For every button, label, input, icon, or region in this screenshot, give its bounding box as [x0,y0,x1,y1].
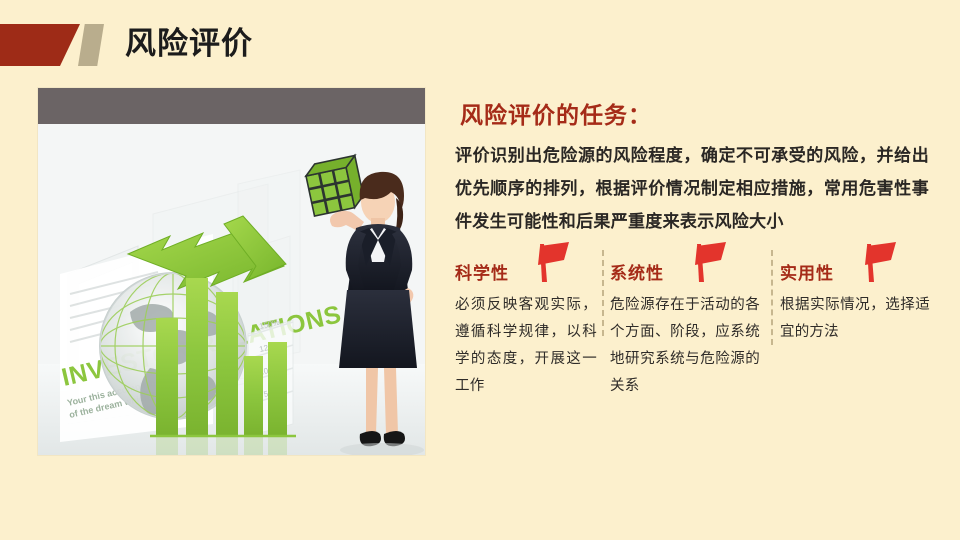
feature-column-2-body: 危险源存在于活动的各个方面、阶段，应系统地研究系统与危险源的关系 [610,292,760,400]
task-body-text: 评价识别出危险源的风险程度，确定不可承受的风险，并给出优先顺序的排列，根据评价情… [455,139,929,238]
feature-column-1-header: 科学性 [455,246,597,288]
header-banner [0,24,104,66]
flag-icon [858,240,900,289]
feature-column-3-header: 实用性 [780,246,930,288]
feature-column-3-title: 实用性 [780,259,834,284]
column-divider-1 [602,250,604,336]
feature-column-1-title: 科学性 [455,259,509,284]
feature-column-2-title: 系统性 [610,259,664,284]
feature-column-1-body: 必须反映客观实际，遵循科学规律，以科学的态度，开展这一工作 [455,292,597,400]
feature-column-3: 实用性 根据实际情况，选择适宜的方法 [780,246,930,346]
task-heading: 风险评价的任务： [460,96,652,130]
image-top-bar [38,88,425,124]
business-illustration-svg: INVESTOR RELATIONS Your this accomplishe… [38,124,425,455]
feature-columns: 科学性 必须反映客观实际，遵循科学规律，以科学的态度，开展这一工作 系统性 [455,246,935,426]
flag-icon [688,240,730,289]
red-banner-shape [0,24,80,66]
flag-icon [531,240,573,289]
feature-column-3-body: 根据实际情况，选择适宜的方法 [780,292,930,346]
page-title: 风险评价 [125,23,253,65]
tan-slash-shape [78,24,104,66]
image-canvas: INVESTOR RELATIONS Your this accomplishe… [38,124,425,455]
feature-column-2: 系统性 危险源存在于活动的各个方面、阶段，应系统地研究系统与危险源的关系 [610,246,760,400]
column-divider-2 [771,250,773,345]
feature-column-2-header: 系统性 [610,246,760,288]
illustration-image: INVESTOR RELATIONS Your this accomplishe… [38,88,425,455]
slide-root: 风险评价 [0,0,960,540]
feature-column-1: 科学性 必须反映客观实际，遵循科学规律，以科学的态度，开展这一工作 [455,246,597,400]
